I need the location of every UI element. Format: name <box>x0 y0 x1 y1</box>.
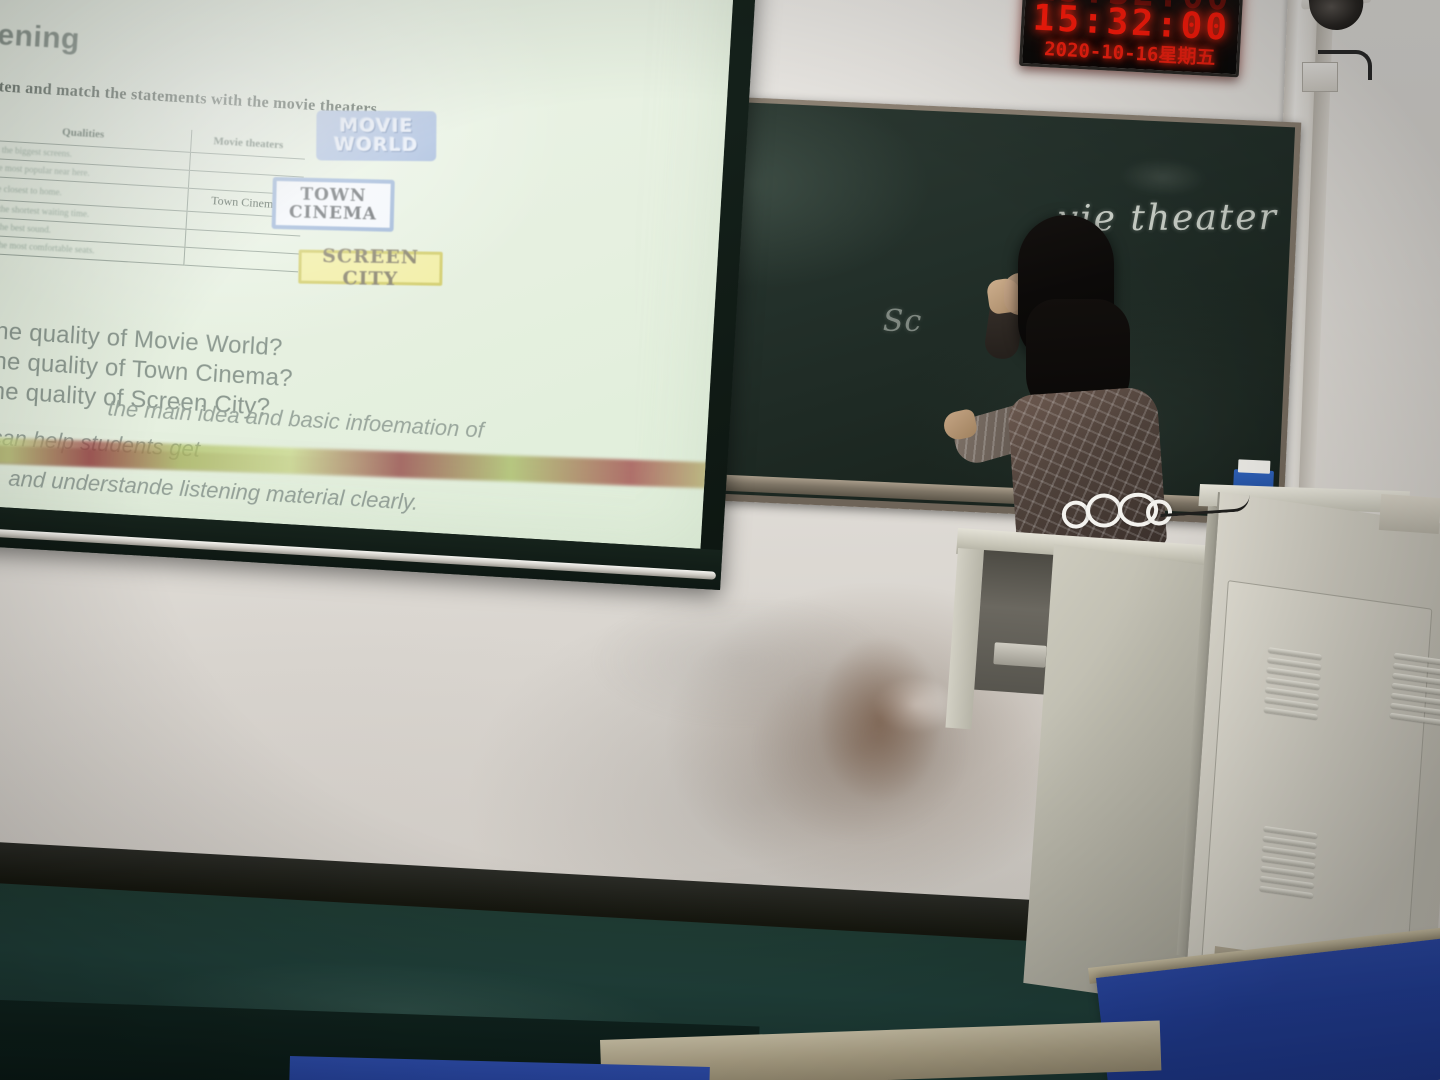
podium-cabinet-door[interactable] <box>1201 580 1432 988</box>
projection-screen: le-listening 1b Listen and match the sta… <box>0 0 763 590</box>
slide-title: le-listening <box>0 13 81 57</box>
cabinet-vent-top-right <box>1389 653 1440 730</box>
podium-side-sliver <box>1379 494 1440 534</box>
town-cinema-logo: TOWN CINEMA <box>272 177 395 232</box>
logo-line-2: CINEMA <box>289 203 377 223</box>
chalk-writing-sub: Sc <box>883 304 923 339</box>
camera-dome-lens <box>1309 0 1366 33</box>
cabinet-vent-bottom-left <box>1259 826 1317 903</box>
movie-world-logo: MOVIE WORLD <box>316 110 436 161</box>
logo-line-2: WORLD <box>334 136 419 156</box>
led-clock-display: 15:32:00 15:32:00 2020-10-16星期五 <box>1019 0 1244 77</box>
logo-line-1: SCREEN CITY <box>301 245 440 291</box>
teacher-podium-cabinet[interactable] <box>950 486 1440 1006</box>
cable-loop <box>1085 493 1122 528</box>
screen-city-logo: SCREEN CITY <box>298 250 443 286</box>
coiled-power-cable[interactable] <box>1061 490 1172 536</box>
chalk-smudge <box>1096 145 1229 211</box>
screen-border: le-listening 1b Listen and match the sta… <box>0 0 763 590</box>
qualities-table: Qualities Movie theaters It has the bigg… <box>0 117 306 272</box>
classroom-photo: 15:32:00 15:32:00 2020-10-16星期五 vie thea… <box>0 0 1440 1080</box>
presentation-slide: le-listening 1b Listen and match the sta… <box>0 0 740 549</box>
junction-cable <box>1318 50 1372 80</box>
cabinet-vent-top-left <box>1263 647 1321 724</box>
podium-power-socket[interactable] <box>993 642 1046 668</box>
